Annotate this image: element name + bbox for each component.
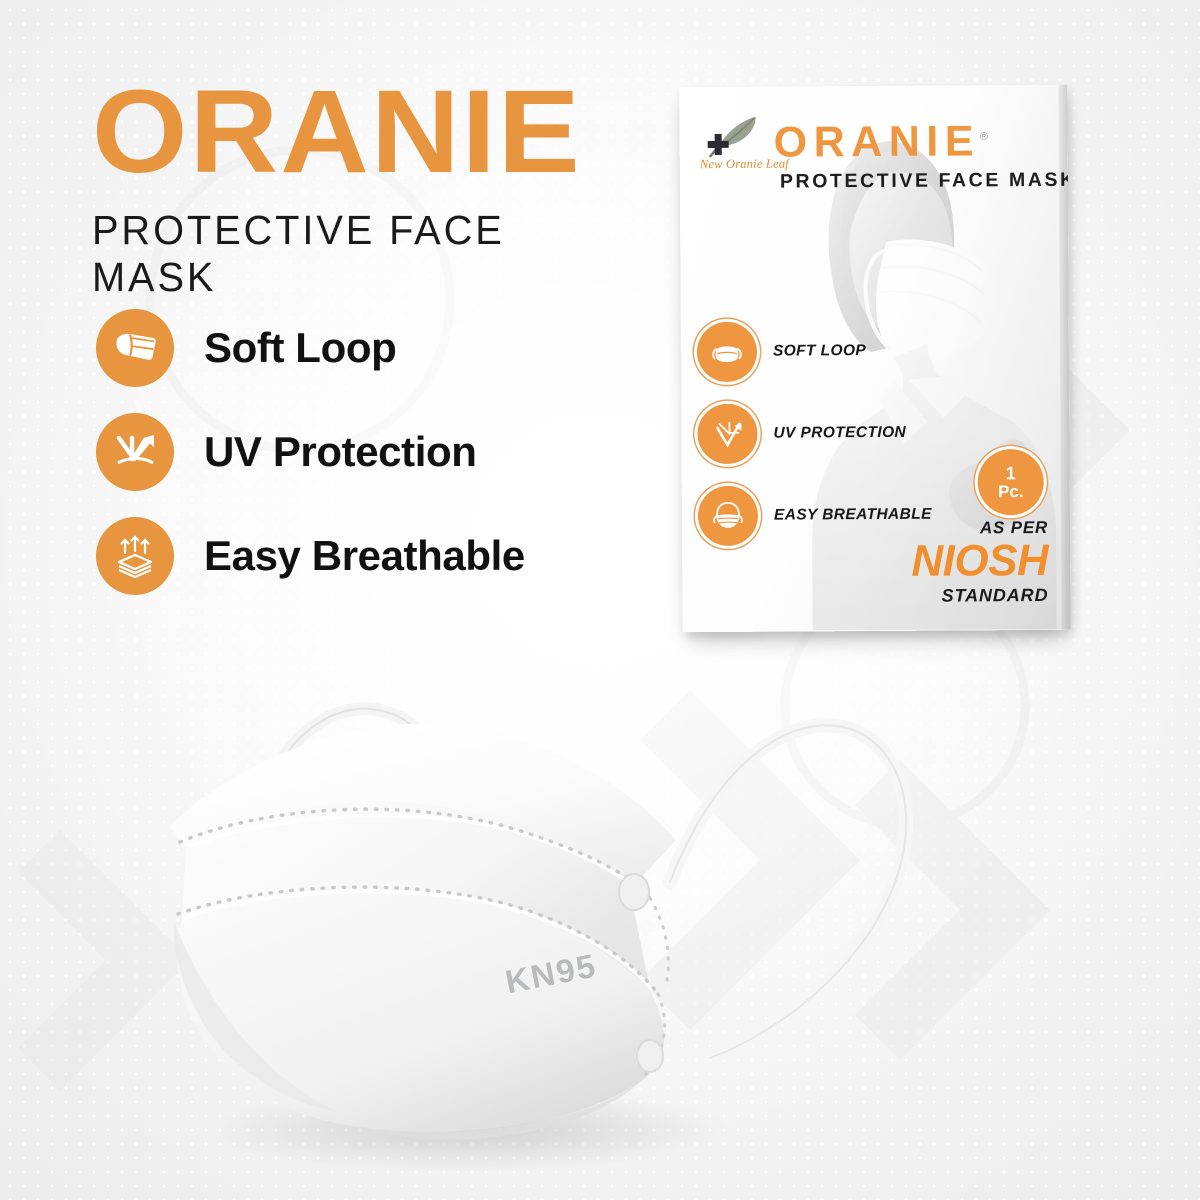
feature-item-soft-loop: Soft Loop bbox=[96, 296, 616, 400]
product-package: ORANIE® New Oranie Leaf PROTECTIVE FACE … bbox=[679, 85, 1070, 632]
quantity-count: 1 bbox=[1006, 464, 1016, 483]
package-feature-label: EASY BREATHABLE bbox=[774, 506, 932, 525]
leaf-cross-icon bbox=[697, 113, 767, 163]
package-brand-text: ORANIE bbox=[774, 117, 981, 166]
package-subtitle: PROTECTIVE FACE MASK bbox=[780, 169, 1050, 194]
quantity-unit: Pc. bbox=[998, 483, 1024, 501]
quantity-badge: 1 Pc. bbox=[978, 449, 1044, 515]
package-header: ORANIE® New Oranie Leaf PROTECTIVE FACE … bbox=[697, 111, 1049, 194]
page-title: ORANIE bbox=[92, 78, 633, 187]
headline-block: ORANIE PROTECTIVE FACE MASK bbox=[92, 78, 612, 301]
uv-rays-icon bbox=[96, 413, 174, 491]
hero-product-photo bbox=[110, 590, 930, 1180]
product-marketing-banner: ORANIE PROTECTIVE FACE MASK Soft Loop bbox=[0, 0, 1200, 1200]
feature-label: Easy Breathable bbox=[204, 532, 525, 580]
kn95-mask-illustration bbox=[110, 590, 930, 1180]
feature-label: UV Protection bbox=[204, 428, 477, 476]
package-feature-label: SOFT LOOP bbox=[773, 342, 866, 361]
certification-suffix: STANDARD bbox=[912, 585, 1049, 607]
package-logo-caption: New Oranie Leaf bbox=[700, 157, 789, 173]
face-mask-icon bbox=[96, 309, 174, 387]
masked-person-icon bbox=[698, 486, 758, 546]
feature-item-uv-protection: UV Protection bbox=[96, 400, 616, 504]
certification-block: AS PER NIOSH STANDARD bbox=[911, 518, 1048, 607]
feature-label: Soft Loop bbox=[204, 324, 396, 372]
package-brand-name: ORANIE® bbox=[774, 120, 989, 164]
page-subtitle: PROTECTIVE FACE MASK bbox=[92, 207, 596, 301]
feature-list: Soft Loop UV Protection bbox=[96, 296, 616, 608]
uv-check-icon bbox=[697, 404, 757, 464]
package-feature-uv-protection: UV PROTECTION bbox=[697, 392, 947, 476]
registered-trademark-icon: ® bbox=[980, 131, 988, 143]
face-mask-icon bbox=[697, 322, 757, 382]
package-feature-soft-loop: SOFT LOOP bbox=[697, 310, 947, 394]
package-feature-label: UV PROTECTION bbox=[773, 424, 906, 443]
layered-fabric-icon bbox=[96, 517, 174, 595]
certification-name: NIOSH bbox=[911, 539, 1048, 585]
